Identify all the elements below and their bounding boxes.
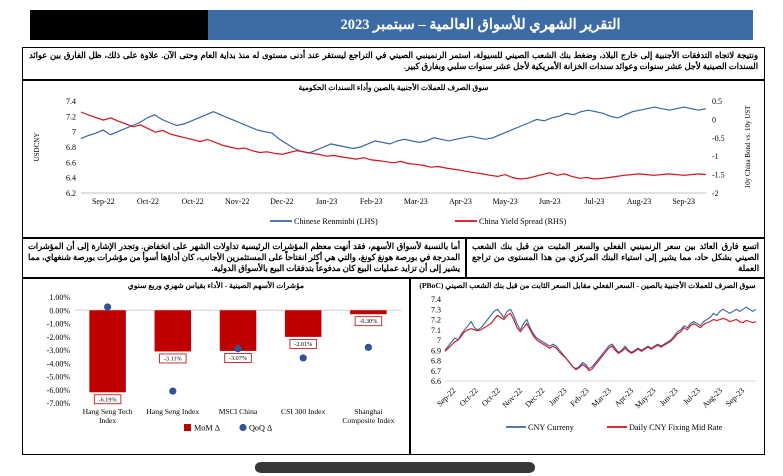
y-axis-tick-label: 6.4 xyxy=(66,174,76,183)
x-axis-tick-label: Feb-23 xyxy=(568,386,590,408)
y-axis-tick-label: 0.00% xyxy=(49,306,70,315)
intro-paragraph-text: ونتيجة لاتجاه التدفقات الأجنبية إلى خارج… xyxy=(29,50,758,72)
category-label-0: Index xyxy=(99,416,116,425)
bar-1 xyxy=(155,310,192,351)
x-axis-tick-label: Sep-22 xyxy=(92,197,115,206)
category-label-3: CSI 300 Index xyxy=(281,407,325,416)
fx-commentary-text: اتسع فارق العائد بين سعر الرنمينبي الفعل… xyxy=(472,241,759,275)
category-label-0: Hang Seng Tech xyxy=(83,407,133,416)
chart-china-equity: مؤشرات الأسهم الصينية - الأداء بقياس شهر… xyxy=(22,278,410,455)
fx-commentary-box: اتسع فارق العائد بين سعر الرنمينبي الفعل… xyxy=(466,238,765,278)
y-axis-tick-label: 7.4 xyxy=(431,295,441,304)
chart-cny-fixing-title: سوق الصرف للعملات الأجنبية بالصين - السع… xyxy=(411,281,764,291)
chart-cny-fixing-canvas: 6.66.76.86.977.17.27.37.4Sep-22Oct-22Oct… xyxy=(411,291,764,439)
qoq-dot-0 xyxy=(104,303,111,310)
y-axis-tick-label: 7.2 xyxy=(66,112,76,121)
report-header: التقرير الشهري للأسواق العالمية – سبتمبر… xyxy=(0,0,783,46)
y2-axis-tick-label: -1 xyxy=(712,152,719,161)
y2-axis-tick-label: -2 xyxy=(712,189,719,198)
bar-label-2: -3.07% xyxy=(229,355,247,362)
bar-label-0: -6.19% xyxy=(99,396,117,403)
legend-label-mom: MoM Δ xyxy=(194,423,220,432)
x-axis-tick-label: Sep-23 xyxy=(724,386,746,408)
y-axis-tick-label: 7.4 xyxy=(66,97,76,106)
qoq-dot-1 xyxy=(169,387,176,394)
x-axis-tick-label: Oct-22 xyxy=(137,197,159,206)
legend-label-0: Chinese Renminbi (LHS) xyxy=(294,217,378,226)
series-line-1 xyxy=(445,313,756,370)
bar-4 xyxy=(350,310,387,314)
qoq-dot-2 xyxy=(234,345,241,352)
series-line-1 xyxy=(81,112,706,179)
y-axis-title: USDCNY xyxy=(33,132,41,161)
y-axis-tick-label: -7.00% xyxy=(47,399,71,408)
y-axis-tick-label: 7 xyxy=(437,336,441,345)
x-axis-tick-label: Feb-23 xyxy=(360,197,383,206)
y-axis-tick-label: -6.00% xyxy=(47,386,71,395)
chart-fx-govbond: سوق الصرف للعملات الأجنبية بالصين وأداء … xyxy=(22,80,765,238)
x-axis-tick-label: Sep-22 xyxy=(435,386,457,408)
x-axis-tick-label: Nov-22 xyxy=(225,197,249,206)
header-black-block xyxy=(30,10,208,40)
category-label-1: Hang Seng Index xyxy=(146,407,199,416)
x-axis-tick-label: May-23 xyxy=(492,197,517,206)
chart-fx-govbond-title: سوق الصرف للعملات الأجنبية بالصين وأداء … xyxy=(23,83,764,93)
y-axis-tick-label: -3.00% xyxy=(47,346,71,355)
x-axis-tick-label: Jan-23 xyxy=(316,197,337,206)
y-axis-tick-label: 1.00% xyxy=(49,293,70,302)
x-axis-tick-label: Sep-23 xyxy=(672,197,695,206)
y-axis-tick-label: 7.2 xyxy=(431,315,441,324)
y-axis-tick-label: -5.00% xyxy=(47,372,71,381)
series-line-0 xyxy=(81,107,706,153)
category-label-4: Composite Index xyxy=(342,416,394,425)
x-axis-tick-label: Oct-22 xyxy=(458,386,480,408)
y-axis-tick-label: -4.00% xyxy=(47,359,71,368)
x-axis-tick-label: Mar-23 xyxy=(590,386,613,409)
x-axis-tick-label: Aug-23 xyxy=(700,386,724,410)
x-axis-tick-label: Jul-23 xyxy=(584,197,604,206)
x-axis-tick-label: Oct-22 xyxy=(181,197,203,206)
y-axis-tick-label: 7 xyxy=(72,128,76,137)
equity-commentary-box: أما بالنسبة لأسواق الأسهم، فقد أنهت معظم… xyxy=(22,238,466,278)
bar-label-4: -0.30% xyxy=(359,318,377,325)
y2-axis-title: 10y China Bond vs. 10y UST xyxy=(744,105,752,189)
footer-bar xyxy=(255,462,535,473)
series-line-0 xyxy=(445,307,756,369)
y-axis-tick-label: -2.00% xyxy=(47,333,71,342)
x-axis-tick-label: Apr-23 xyxy=(449,197,472,206)
y2-axis-tick-label: -0.5 xyxy=(712,134,725,143)
legend-label-qoq: QoQ Δ xyxy=(249,423,272,432)
category-label-4: Shanghai xyxy=(354,407,382,416)
x-axis-tick-label: May-23 xyxy=(633,386,657,410)
x-axis-tick-label: Oct-22 xyxy=(480,386,502,408)
y-axis-tick-label: 6.7 xyxy=(431,367,441,376)
x-axis-tick-label: Dec-22 xyxy=(523,386,546,409)
legend-swatch-mom xyxy=(184,424,191,431)
equity-commentary-text: أما بالنسبة لأسواق الأسهم، فقد أنهت معظم… xyxy=(28,241,460,275)
y-axis-tick-label: 6.6 xyxy=(431,377,441,386)
y-axis-tick-label: 7.3 xyxy=(431,305,441,314)
header-banner: التقرير الشهري للأسواق العالمية – سبتمبر… xyxy=(208,10,753,40)
legend-swatch-qoq xyxy=(239,424,246,431)
y2-axis-tick-label: -1.5 xyxy=(712,170,725,179)
y2-axis-tick-label: 0 xyxy=(712,115,716,124)
bar-3 xyxy=(285,310,322,337)
qoq-dot-4 xyxy=(365,344,372,351)
y-axis-tick-label: 6.8 xyxy=(66,143,76,152)
x-axis-tick-label: Aug-23 xyxy=(627,197,651,206)
intro-paragraph-box: ونتيجة لاتجاه التدفقات الأجنبية إلى خارج… xyxy=(22,47,765,80)
legend-label-1: Daily CNY Fixing Mid Rate xyxy=(629,423,723,432)
chart-fx-govbond-canvas: 6.26.46.66.877.27.4-2-1.5-1-0.500.5USDCN… xyxy=(23,93,764,231)
x-axis-tick-label: Apr-23 xyxy=(613,386,636,409)
chart-china-equity-canvas: 1.00%0.00%-1.00%-2.00%-3.00%-4.00%-5.00%… xyxy=(23,291,409,449)
x-axis-tick-label: Jul-23 xyxy=(681,386,702,407)
y-axis-tick-label: -1.00% xyxy=(47,319,71,328)
category-label-2: MSCI China xyxy=(219,407,258,416)
y-axis-tick-label: 6.6 xyxy=(66,158,76,167)
chart-china-equity-title: مؤشرات الأسهم الصينية - الأداء بقياس شهر… xyxy=(23,281,409,291)
bar-2 xyxy=(220,310,257,351)
x-axis-tick-label: Dec-22 xyxy=(270,197,294,206)
y-axis-tick-label: 6.2 xyxy=(66,189,76,198)
chart-cny-fixing: سوق الصرف للعملات الأجنبية بالصين - السع… xyxy=(410,278,765,455)
qoq-dot-3 xyxy=(300,354,307,361)
x-axis-tick-label: Mar-23 xyxy=(404,197,428,206)
y2-axis-tick-label: 0.5 xyxy=(712,97,722,106)
x-axis-tick-label: Jun-23 xyxy=(658,386,680,408)
x-axis-tick-label: Nov-22 xyxy=(501,386,525,410)
y-axis-tick-label: 6.9 xyxy=(431,346,441,355)
bar-0 xyxy=(89,310,126,392)
page-title: التقرير الشهري للأسواق العالمية – سبتمبر… xyxy=(340,17,620,34)
x-axis-tick-label: Jan-23 xyxy=(547,386,568,407)
y-axis-tick-label: 7.1 xyxy=(431,326,441,335)
legend-label-1: China Yield Spread (RHS) xyxy=(479,217,567,226)
y-axis-tick-label: 6.8 xyxy=(431,356,441,365)
legend-label-0: CNY Curreny xyxy=(528,423,575,432)
bar-label-3: -2.01% xyxy=(294,341,312,348)
bar-label-1: -3.11% xyxy=(164,355,182,362)
x-axis-tick-label: Jun-23 xyxy=(539,197,561,206)
